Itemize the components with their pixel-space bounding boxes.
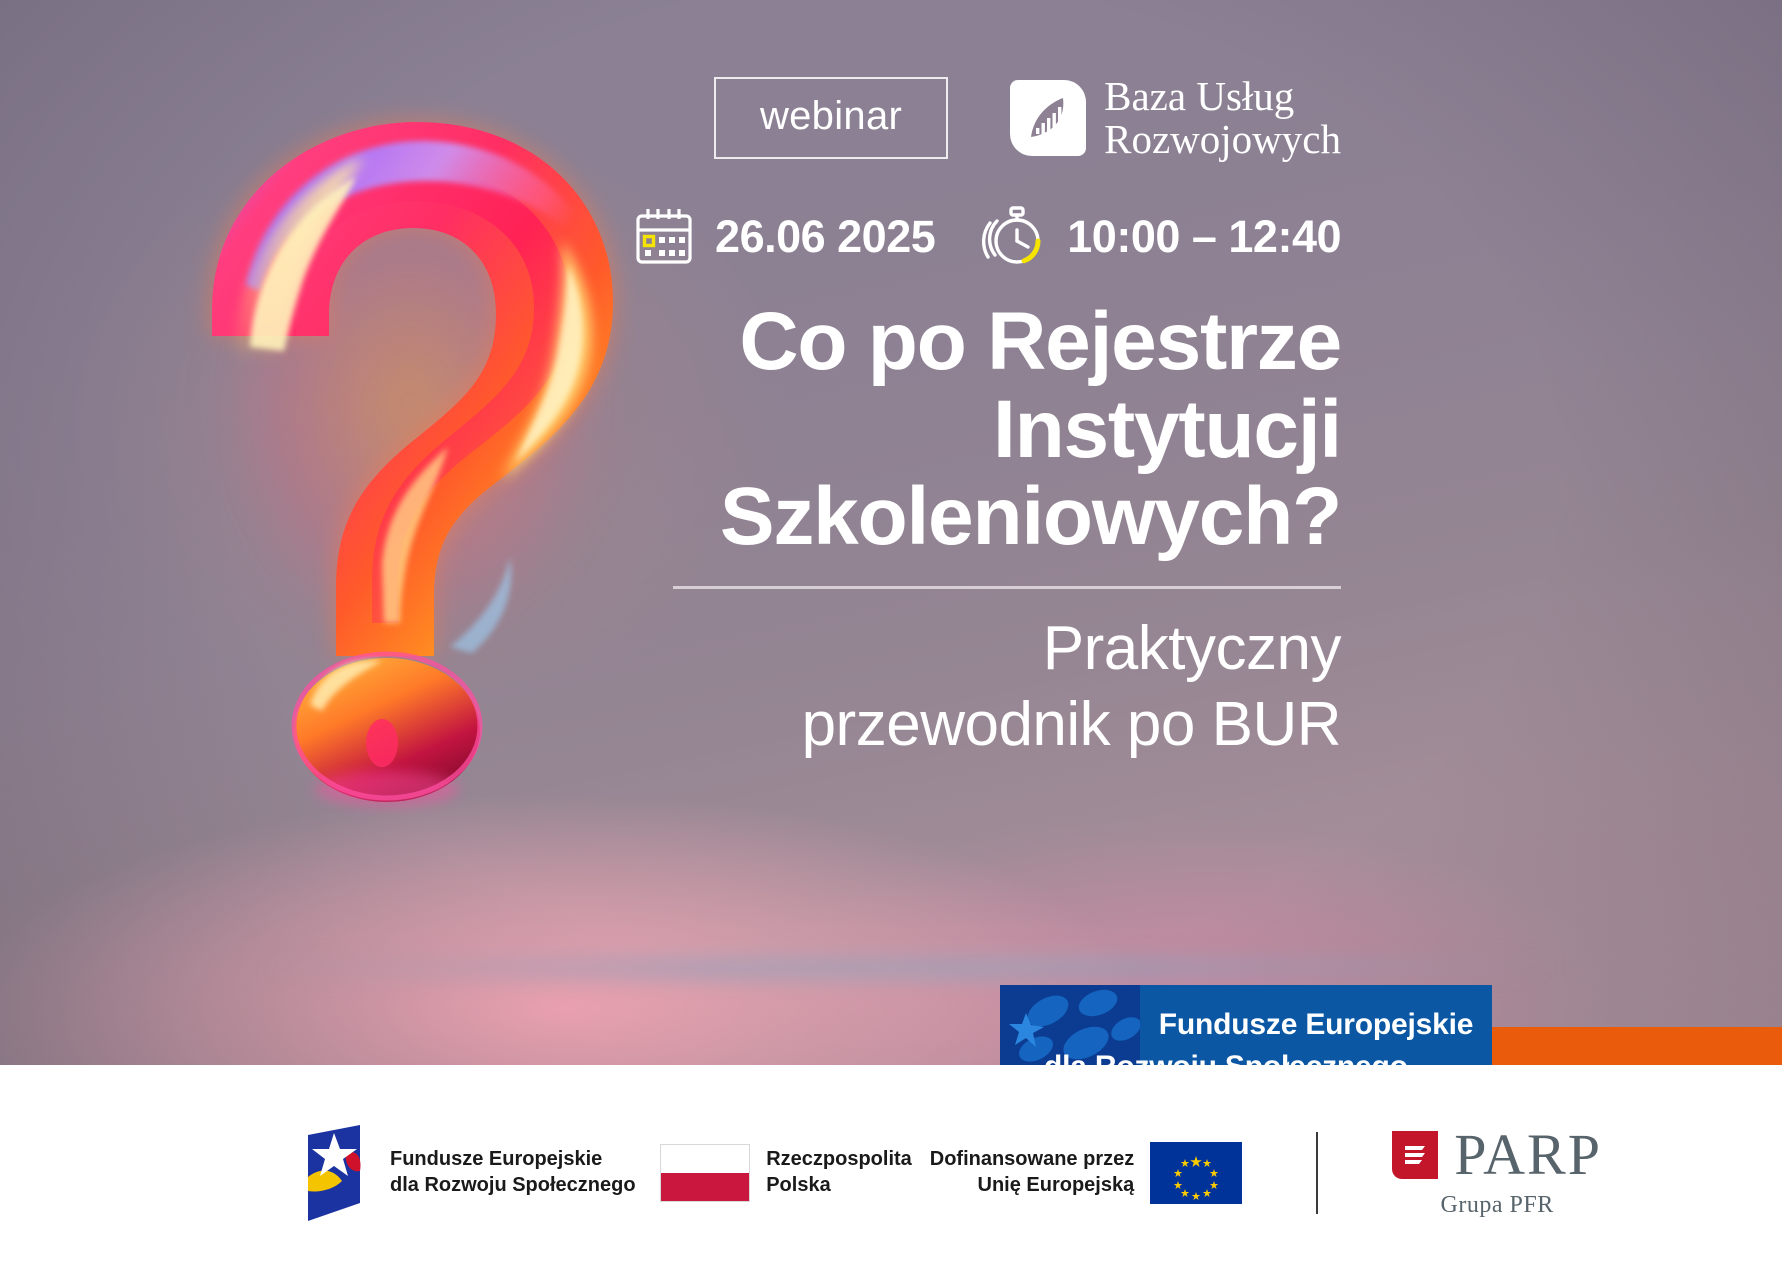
title-line-3: Szkoleniowych? <box>581 473 1341 561</box>
event-date-text: 26.06 2025 <box>715 214 935 259</box>
parp-logo-icon <box>1392 1131 1438 1179</box>
stopwatch-icon <box>981 203 1047 269</box>
calendar-icon <box>633 205 695 267</box>
bur-leaf-chart-icon <box>1010 80 1086 156</box>
footer-label-rzeczpospolita-polska: Rzeczpospolita Polska <box>766 1147 912 1198</box>
subtitle-line-1: Praktyczny <box>581 611 1341 687</box>
footer-pl-line-1: Rzeczpospolita <box>766 1147 912 1173</box>
title-block: Co po Rejestrze Instytucji Szkoleniowych… <box>581 298 1341 762</box>
bur-wordmark: Baza Usług Rozwojowych <box>1104 75 1341 162</box>
title-divider <box>673 586 1341 589</box>
webinar-badge: webinar <box>714 77 948 159</box>
footer-eu-line-2: Unię Europejską <box>930 1173 1134 1199</box>
footer-label-fundusze-europejskie: Fundusze Europejskie dla Rozwoju Społecz… <box>390 1147 636 1198</box>
webinar-poster: webinar Baza Usług <box>0 0 1782 1280</box>
footer-label-unia-europejska: Dofinansowane przez Unię Europejską <box>930 1147 1134 1198</box>
poland-flag-icon <box>660 1144 750 1202</box>
footer-divider <box>1316 1132 1318 1214</box>
subtitle-line-2: przewodnik po BUR <box>581 687 1341 763</box>
event-time: 10:00 – 12:40 <box>981 203 1341 269</box>
footer-eu-line-1: Dofinansowane przez <box>930 1147 1134 1173</box>
footer-logo-rzeczpospolita-polska: Rzeczpospolita Polska <box>660 1144 912 1202</box>
event-time-text: 10:00 – 12:40 <box>1067 214 1341 259</box>
fundusze-europejskie-banner: Fundusze Europejskie dla Rozwoju Społecz… <box>1000 985 1782 1065</box>
content-column: webinar Baza Usług <box>640 0 1782 1065</box>
parp-subtitle: Grupa PFR <box>1441 1192 1554 1219</box>
bur-name-line-1: Baza Usług <box>1104 75 1341 118</box>
title-line-2: Instytucji <box>581 386 1341 474</box>
footer-fe-line-2: dla Rozwoju Społecznego <box>390 1173 636 1199</box>
footer-logo-bar: Fundusze Europejskie dla Rozwoju Społecz… <box>0 1065 1782 1280</box>
footer-logo-parp: PARP Grupa PFR <box>1392 1126 1602 1219</box>
footer-fe-line-1: Fundusze Europejskie <box>390 1147 636 1173</box>
fundusze-europejskie-star-icon <box>300 1125 374 1221</box>
bur-logo: Baza Usług Rozwojowych <box>1010 75 1341 162</box>
event-meta-row: 26.06 2025 10:00 – 12:40 <box>633 203 1341 269</box>
parp-wordmark: PARP <box>1454 1126 1602 1184</box>
title-line-1: Co po Rejestrze <box>581 298 1341 386</box>
footer-logo-fundusze-europejskie: Fundusze Europejskie dla Rozwoju Społecz… <box>300 1125 636 1221</box>
eu-flag-icon <box>1150 1142 1242 1204</box>
header-row: webinar Baza Usług <box>714 75 1341 162</box>
event-date: 26.06 2025 <box>633 205 935 267</box>
footer-pl-line-2: Polska <box>766 1173 912 1199</box>
bur-name-line-2: Rozwojowych <box>1104 118 1341 161</box>
subtitle-block: Praktyczny przewodnik po BUR <box>581 611 1341 762</box>
footer-logo-unia-europejska: Dofinansowane przez Unię Europejską <box>930 1142 1242 1204</box>
